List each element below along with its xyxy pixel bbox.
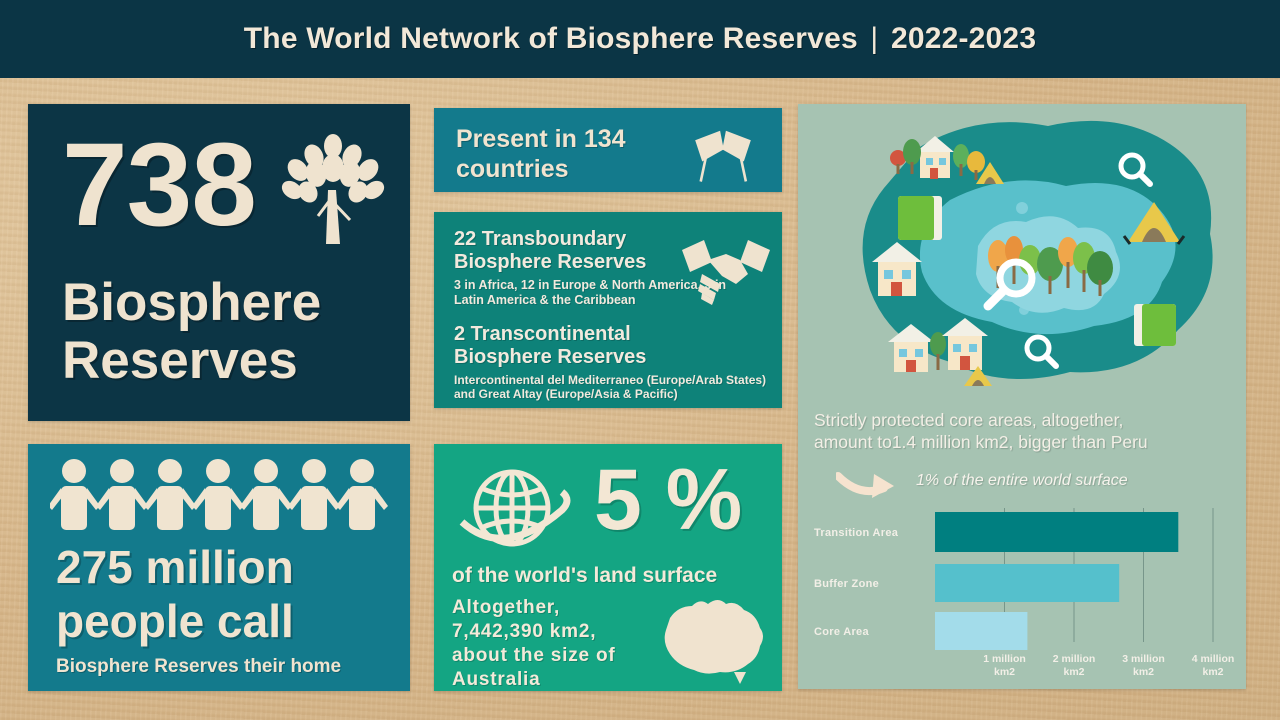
- countries-panel: Present in 134 countries: [434, 108, 782, 192]
- bar-category-label-transition: Transition Area: [814, 527, 899, 539]
- tick-label-1m-line1: 1 million: [983, 653, 1026, 665]
- page-header: The World Network of Biosphere Reserves …: [0, 0, 1280, 78]
- australia-map-icon: [648, 592, 774, 684]
- transcontinental-detail: Intercontinental del Mediterraneo (Europ…: [454, 373, 769, 401]
- people-count-label: 275 million people call: [56, 540, 396, 648]
- page-title-main: The World Network of Biosphere Reserves: [244, 22, 858, 55]
- tick-label-3m-line2: km2: [1133, 666, 1154, 678]
- core-areas-panel: Strictly protected core areas, altogethe…: [798, 104, 1246, 689]
- tree-icon: [278, 132, 388, 250]
- transboundary-panel: 22 Transboundary Biosphere Reserves 3 in…: [434, 212, 782, 408]
- decorative-bubble: [1016, 202, 1028, 214]
- land-surface-panel: 5 % of the world's land surface Altogeth…: [434, 444, 782, 691]
- crossed-flags-icon: [682, 120, 764, 182]
- handshake-icon: [678, 234, 774, 308]
- chart-x-axis-labels: 1 million km2 2 million km2 3 million km…: [983, 653, 1234, 678]
- people-panel: 275 million people call Biosphere Reserv…: [28, 444, 410, 691]
- zones-bar-chart: Transition Area Buffer Zone Core Area 1 …: [798, 502, 1246, 687]
- decorative-bubble: [1019, 305, 1029, 315]
- globe-icon: [454, 460, 580, 556]
- land-surface-detail-line-4: Australia: [452, 668, 652, 692]
- tick-label-2m-line2: km2: [1063, 666, 1084, 678]
- book-icon: [1134, 304, 1176, 346]
- bar-category-label-buffer: Buffer Zone: [814, 578, 879, 590]
- tree-icon: [930, 332, 946, 370]
- people-subtitle: Biosphere Reserves their home: [56, 656, 406, 678]
- world-surface-note: 1% of the entire world surface: [916, 472, 1128, 490]
- page-title: The World Network of Biosphere Reserves …: [244, 22, 1036, 56]
- transcontinental-heading-line1: 2 Transcontinental: [454, 323, 764, 346]
- tick-label-1m-line2: km2: [994, 666, 1015, 678]
- reserves-count-panel: 738 Biosphere Reserves: [28, 104, 410, 421]
- land-surface-percent: 5 %: [594, 450, 742, 550]
- title-separator: |: [866, 22, 882, 55]
- reserves-count-label: Biosphere Reserves: [62, 274, 392, 390]
- book-icon: [898, 196, 942, 240]
- land-surface-detail-line-2: 7,442,390 km2,: [452, 620, 652, 644]
- bar-core-area: [935, 612, 1027, 650]
- bar-category-label-core: Core Area: [814, 626, 869, 638]
- core-areas-statement: Strictly protected core areas, altogethe…: [814, 409, 1238, 453]
- bar-buffer-zone: [935, 564, 1119, 602]
- land-surface-detail-line-3: about the size of: [452, 644, 652, 668]
- land-surface-caption: of the world's land surface: [452, 564, 772, 588]
- transcontinental-heading-line2: Biosphere Reserves: [454, 346, 764, 369]
- core-areas-statement-line1: Strictly protected core areas, altogethe…: [814, 409, 1238, 431]
- tick-label-2m-line1: 2 million: [1053, 653, 1096, 665]
- reserves-count-number: 738: [62, 126, 256, 244]
- people-holding-hands-icon: [50, 458, 390, 536]
- page-title-years: 2022-2023: [891, 22, 1036, 55]
- curved-arrow-icon: [836, 468, 902, 502]
- tick-label-4m-line2: km2: [1202, 666, 1223, 678]
- tick-label-3m-line1: 3 million: [1122, 653, 1165, 665]
- bar-transition-area: [935, 512, 1178, 552]
- core-areas-statement-line2: amount to1.4 million km2, bigger than Pe…: [814, 431, 1238, 453]
- land-surface-detail-line-1: Altogether,: [452, 596, 652, 620]
- land-surface-detail: Altogether, 7,442,390 km2, about the siz…: [452, 596, 652, 692]
- countries-label: Present in 134 countries: [456, 124, 676, 184]
- tick-label-4m-line1: 4 million: [1192, 653, 1235, 665]
- biosphere-zones-map: [798, 104, 1246, 404]
